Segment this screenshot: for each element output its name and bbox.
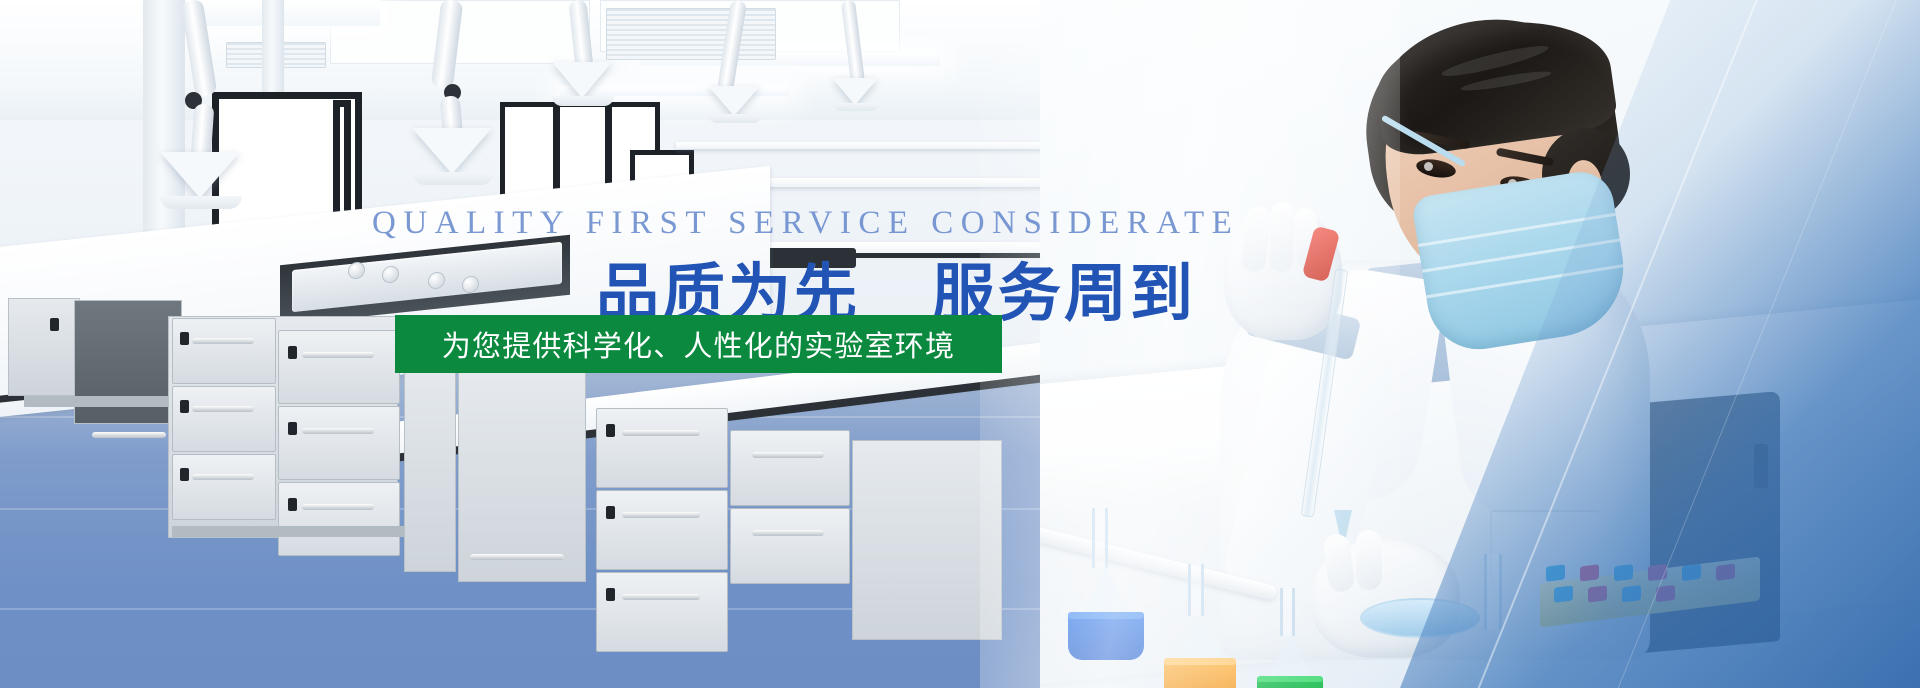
banner-subtitle-bar: 为您提供科学化、人性化的实验室环境 (395, 315, 1002, 373)
banner-eyebrow-text: QUALITY FIRST SERVICE CONSIDERATE (372, 205, 1032, 242)
hero-banner: QUALITY FIRST SERVICE CONSIDERATE 品质为先 服… (0, 0, 1920, 688)
banner-subtitle-text: 为您提供科学化、人性化的实验室环境 (442, 323, 955, 365)
banner-text-layer: QUALITY FIRST SERVICE CONSIDERATE 品质为先 服… (0, 0, 1920, 688)
